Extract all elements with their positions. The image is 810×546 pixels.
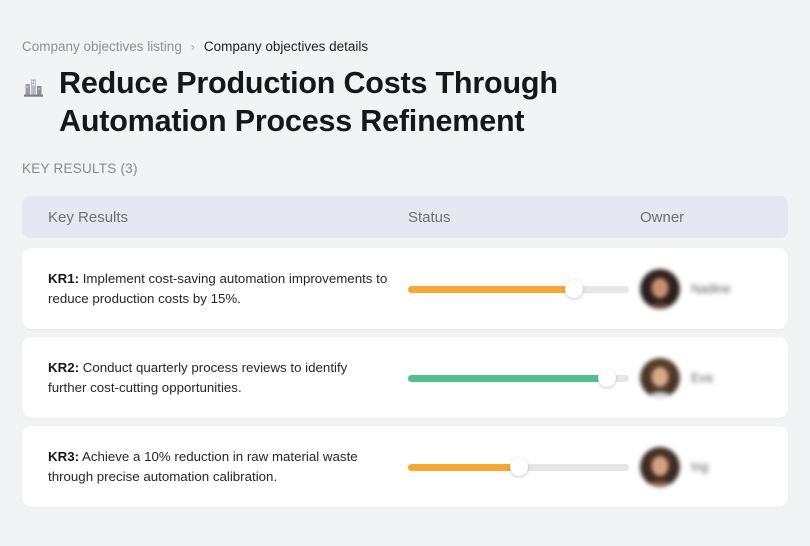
office-building-icon [22,76,46,98]
owner-name: Ing [691,460,708,474]
progress-slider[interactable] [408,280,629,298]
key-result-label: KR3: [48,449,79,464]
owner-cell: Nadine [640,269,788,309]
key-result-cell: KR3: Achieve a 10% reduction in raw mate… [22,447,408,487]
owner-cell: Ing [640,447,788,487]
breadcrumb-current: Company objectives details [204,38,368,56]
owner[interactable]: Ing [640,447,788,487]
status-cell [408,458,640,476]
key-result-text: KR3: Achieve a 10% reduction in raw mate… [48,447,408,487]
avatar [640,447,680,487]
key-result-description: Implement cost-saving automation improve… [48,271,387,306]
avatar [640,269,680,309]
progress-fill [408,286,574,293]
table-row[interactable]: KR1: Implement cost-saving automation im… [22,248,788,329]
owner[interactable]: Nadine [640,269,788,309]
column-header-owner: Owner [640,209,788,226]
key-result-label: KR2: [48,360,79,375]
progress-slider[interactable] [408,369,629,387]
key-result-label: KR1: [48,271,79,286]
status-cell [408,280,640,298]
chevron-right-icon: › [191,38,195,56]
key-results-table: Key Results Status Owner KR1: Implement … [22,196,788,515]
column-header-status: Status [408,209,640,226]
table-header-row: Key Results Status Owner [22,196,788,238]
avatar [640,358,680,398]
key-result-text: KR1: Implement cost-saving automation im… [48,269,408,309]
table-row[interactable]: KR3: Achieve a 10% reduction in raw mate… [22,426,788,507]
owner-name: Eva [691,371,713,385]
key-result-cell: KR2: Conduct quarterly process reviews t… [22,358,408,398]
progress-thumb[interactable] [565,280,583,298]
breadcrumb: Company objectives listing › Company obj… [22,38,368,56]
column-header-key-results: Key Results [22,209,408,226]
table-body: KR1: Implement cost-saving automation im… [22,248,788,507]
owner-name: Nadine [691,282,731,296]
owner-cell: Eva [640,358,788,398]
status-cell [408,369,640,387]
progress-slider[interactable] [408,458,629,476]
key-result-description: Achieve a 10% reduction in raw material … [48,449,358,484]
owner[interactable]: Eva [640,358,788,398]
progress-thumb[interactable] [598,369,616,387]
key-result-cell: KR1: Implement cost-saving automation im… [22,269,408,309]
page-header: Reduce Production Costs Through Automati… [22,64,712,140]
page-title: Reduce Production Costs Through Automati… [59,64,712,140]
table-row[interactable]: KR2: Conduct quarterly process reviews t… [22,337,788,418]
key-result-description: Conduct quarterly process reviews to ide… [48,360,347,395]
key-result-text: KR2: Conduct quarterly process reviews t… [48,358,408,398]
breadcrumb-parent-link[interactable]: Company objectives listing [22,38,182,56]
key-results-count-label: KEY RESULTS (3) [22,161,138,176]
progress-fill [408,375,607,382]
progress-thumb[interactable] [510,458,528,476]
objective-details-page: Company objectives listing › Company obj… [0,0,810,546]
progress-fill [408,464,519,471]
